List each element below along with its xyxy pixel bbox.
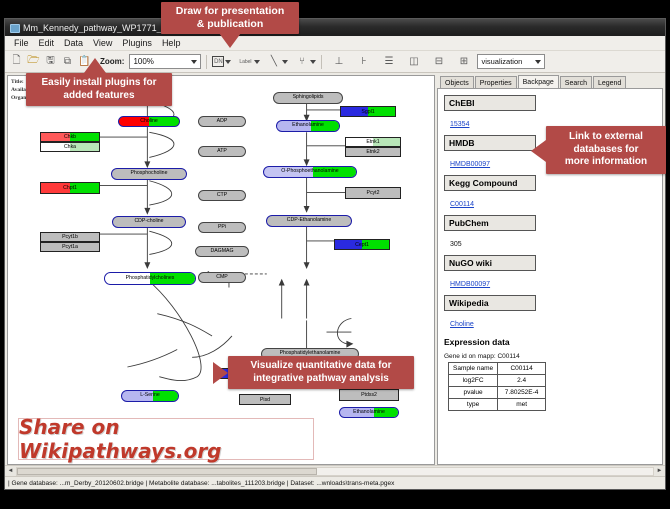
node-ctp[interactable]: CTP [198,190,246,201]
status-text: | Gene database: ...m_Derby_20120602.bri… [8,480,394,487]
node-l-serine-left[interactable]: L-Serine [121,390,179,402]
node-adp[interactable]: ADP [198,116,246,127]
node-choline-top[interactable]: Choline [118,116,180,127]
toolbar-separator [206,55,207,69]
db-link-wikipedia[interactable]: Choline [450,321,474,328]
canvas-meta-available: Availa [11,87,26,93]
menu-plugins[interactable]: Plugins [117,38,157,48]
callout-links: Link to external databases for more info… [546,126,666,174]
align-left-icon[interactable]: ⊦ [356,54,371,69]
expr-value: 2.4 [498,375,546,387]
common-height-icon[interactable]: ⊞ [456,54,471,69]
expr-key: Sample name [449,363,498,375]
chevron-down-icon [282,60,288,64]
scroll-right-icon[interactable]: ► [654,466,665,477]
horizontal-scrollbar[interactable]: ◄ ► [5,465,665,476]
table-row: pvalue 7.80252E-4 [449,387,546,399]
gene-chkb[interactable]: Chkb [40,132,100,142]
table-row: Sample name C00114 [449,363,546,375]
callout-visualize-arrow [213,362,228,384]
align-bottom-icon[interactable]: ⊥ [331,54,346,69]
status-bar: | Gene database: ...m_Derby_20120602.bri… [5,476,665,489]
chevron-down-icon [535,60,541,64]
node-label: DAGMAG [210,249,233,254]
expr-key: type [449,399,498,411]
gene-cept1[interactable]: Cept1 [334,239,390,250]
node-phosphatidylcholines[interactable]: Phosphatidylcholines [104,272,196,285]
visualization-select[interactable]: visualization [477,54,545,69]
expression-table: Sample name C00114 log2FC 2.4 pvalue 7.8… [448,362,546,411]
visualization-value: visualization [481,57,522,66]
gene-label: Pcyt1b [62,234,78,240]
callout-plugins: Easily install plugins for added feature… [26,73,172,106]
node-phosphocholine[interactable]: Phosphocholine [111,168,187,180]
node-label: Choline [140,119,158,124]
tab-backpage[interactable]: Backpage [518,75,559,89]
gene-label: Chpt1 [63,185,77,191]
db-value-pubchem: 305 [450,241,462,248]
node-sphingolipids[interactable]: Sphingolipids [273,92,343,104]
gene-pcyt1b[interactable]: Pcyt1b [40,232,100,242]
copy-icon[interactable]: ⧉ [60,54,75,69]
gene-label: Chka [64,144,76,150]
menu-bar: File Edit Data View Plugins Help [5,36,665,51]
gene-pcyt1a[interactable]: Pcyt1a [40,242,100,252]
gene-label: Pisd [260,397,270,403]
table-row: log2FC 2.4 [449,375,546,387]
node-label: ADP [217,119,228,124]
line-icon[interactable]: ╲ [266,54,281,69]
node-atp[interactable]: ATP [198,146,246,157]
canvas-meta-title: Title: [11,79,24,85]
menu-help[interactable]: Help [157,38,186,48]
chevron-down-icon [310,60,316,64]
label-icon[interactable]: Label [237,54,253,69]
expression-gene-id: Gene id on mapp: C00114 [444,353,662,360]
datanode-tool[interactable]: DN [212,56,231,67]
gene-label: Cept1 [355,242,369,248]
node-label: CDP-Ethanolamine [287,218,331,223]
node-label: CTP [217,193,227,198]
db-header-chebi: ChEBI [444,95,536,111]
menu-file[interactable]: File [9,38,34,48]
expr-value: met [498,399,546,411]
gene-etnk1[interactable]: Etnk1 [345,137,401,147]
gene-label: Etnk1 [366,139,379,145]
open-folder-icon[interactable]: 🗁 [26,54,41,69]
gene-label: Sgpl1 [361,109,374,115]
side-panel-tabs: Objects Properties Backpage Search Legen… [437,75,663,89]
gene-label: Etnk2 [366,149,379,155]
datanode-icon[interactable]: DN [212,56,224,67]
scroll-track[interactable] [16,467,654,476]
gene-sgpl1[interactable]: Sgpl1 [340,106,396,117]
scroll-thumb[interactable] [17,468,317,475]
node-label: CMP [216,275,228,280]
menu-edit[interactable]: Edit [34,38,60,48]
node-label: Phosphocholine [131,171,168,176]
save-icon[interactable]: 🖫 [43,54,58,69]
share-banner: Share on Wikipathways.org [18,418,314,460]
db-link-kegg[interactable]: C00114 [450,201,474,208]
node-ethanolamine-bottom[interactable]: Ethanolamine [339,407,399,418]
receptor-tool[interactable]: ⑂ [294,54,316,69]
db-link-nugowiki[interactable]: HMDB00097 [450,281,490,288]
chevron-down-icon [191,60,197,64]
gene-chpt1[interactable]: Chpt1 [40,182,100,194]
expr-key: pvalue [449,387,498,399]
db-header-kegg: Kegg Compound [444,175,536,191]
receptor-icon[interactable]: ⑂ [294,54,309,69]
gene-pcyt2[interactable]: Pcyt2 [345,187,401,199]
gene-label: Pcyt2 [367,190,380,196]
common-width-icon[interactable]: ⊟ [431,54,446,69]
zoom-select[interactable]: 100% [129,54,201,69]
node-label: Ethanolamine [292,123,324,128]
db-header-wikipedia: Wikipedia [444,295,536,311]
node-label: ATP [217,149,227,154]
node-label: Sphingolipids [293,95,324,100]
node-label: O-Phosphoethanolamine [281,169,338,174]
db-header-pubchem: PubChem [444,215,536,231]
chevron-down-icon [254,60,260,64]
scroll-left-icon[interactable]: ◄ [5,466,16,477]
distribute-horizontal-icon[interactable]: ◫ [406,54,421,69]
callout-visualize: Visualize quantitative data for integrat… [228,356,414,389]
gene-label: Pcyt1a [62,244,78,250]
gene-etnk2[interactable]: Etnk2 [345,147,401,157]
gene-pisd[interactable]: Pisd [239,394,291,405]
db-link-chebi[interactable]: 15354 [450,121,469,128]
callout-draw-arrow [219,33,241,48]
db-header-hmdb: HMDB [444,135,536,151]
menu-view[interactable]: View [88,38,117,48]
share-banner-text: Share on Wikipathways.org [19,415,313,463]
expr-value: C00114 [498,363,546,375]
node-dagmag[interactable]: DAGMAG [195,246,249,257]
node-label: Ethanolamine [353,410,385,415]
db-link-hmdb[interactable]: HMDB00097 [450,161,490,168]
app-icon [10,23,19,32]
gene-ptdss2[interactable]: Ptdss2 [339,389,399,401]
node-o-phosphoethanolamine[interactable]: O-Phosphoethanolamine [263,166,357,178]
gene-label: Ptdss2 [361,392,377,398]
pathway-canvas[interactable]: Title: Availa Organi [7,75,435,465]
callout-draw: Draw for presentation & publication [161,2,299,34]
node-label: Phosphatidylcholines [126,276,175,281]
db-header-nugowiki: NuGO wiki [444,255,536,271]
line-tool[interactable]: ╲ [266,54,288,69]
node-cmp[interactable]: CMP [198,272,246,283]
distribute-vertical-icon[interactable]: ☰ [381,54,396,69]
node-label: CDP-choline [134,219,163,224]
label-tool[interactable]: Label [237,54,260,69]
title-bar: Mm_Kennedy_pathway_WP1771_45176.gpml [5,19,665,36]
node-label: L-Serine [140,393,160,398]
callout-links-arrow [531,140,546,162]
menu-data[interactable]: Data [59,38,88,48]
node-cdp-ethanolamine[interactable]: CDP-Ethanolamine [266,215,352,227]
node-label: PPi [218,225,226,230]
gene-chka[interactable]: Chka [40,142,100,152]
toolbar-separator [321,55,322,69]
expr-value: 7.80252E-4 [498,387,546,399]
zoom-value: 100% [133,57,153,66]
node-cdp-choline[interactable]: CDP-choline [112,216,186,228]
expression-heading: Expression data [444,337,662,347]
callout-plugins-arrow [84,58,106,73]
node-ppi[interactable]: PPi [198,222,246,233]
chevron-down-icon [225,60,231,64]
new-file-icon[interactable]: 🗋 [9,54,24,69]
node-ethanolamine-top[interactable]: Ethanolamine [276,120,340,132]
table-row: type met [449,399,546,411]
gene-label: Chkb [64,134,76,140]
expr-key: log2FC [449,375,498,387]
